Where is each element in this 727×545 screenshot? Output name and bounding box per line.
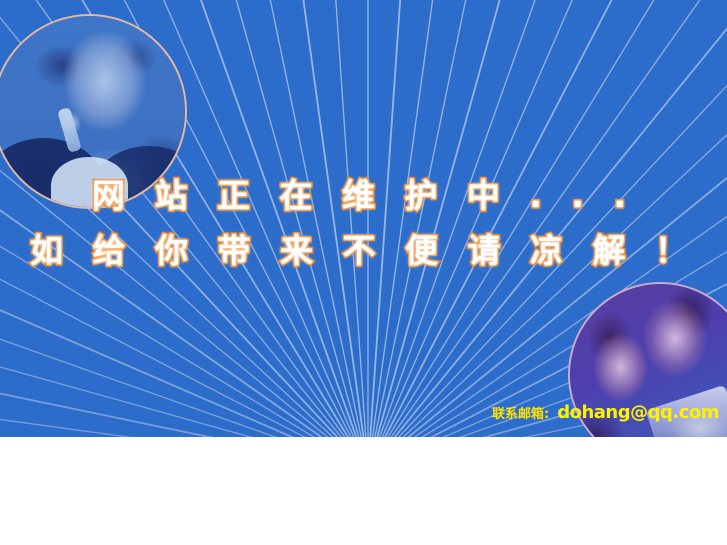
- banner-panel: 网 站 正 在 维 护 中 . . . 如 给 你 带 来 不 便 请 凉 解 …: [0, 0, 727, 437]
- contact-email-link[interactable]: dohang@qq.com: [557, 402, 719, 423]
- avatar-woman-on-phone: [0, 14, 187, 209]
- footer-blank-area: [0, 437, 727, 545]
- maintenance-page: 网 站 正 在 维 护 中 . . . 如 给 你 带 来 不 便 请 凉 解 …: [0, 0, 727, 545]
- contact-label: 联系邮箱:: [492, 403, 549, 422]
- headline-line-2: 如 给 你 带 来 不 便 请 凉 解 ！: [30, 234, 697, 267]
- contact-email-row: 联系邮箱: dohang@qq.com: [492, 402, 719, 423]
- photo-collar: [51, 157, 127, 209]
